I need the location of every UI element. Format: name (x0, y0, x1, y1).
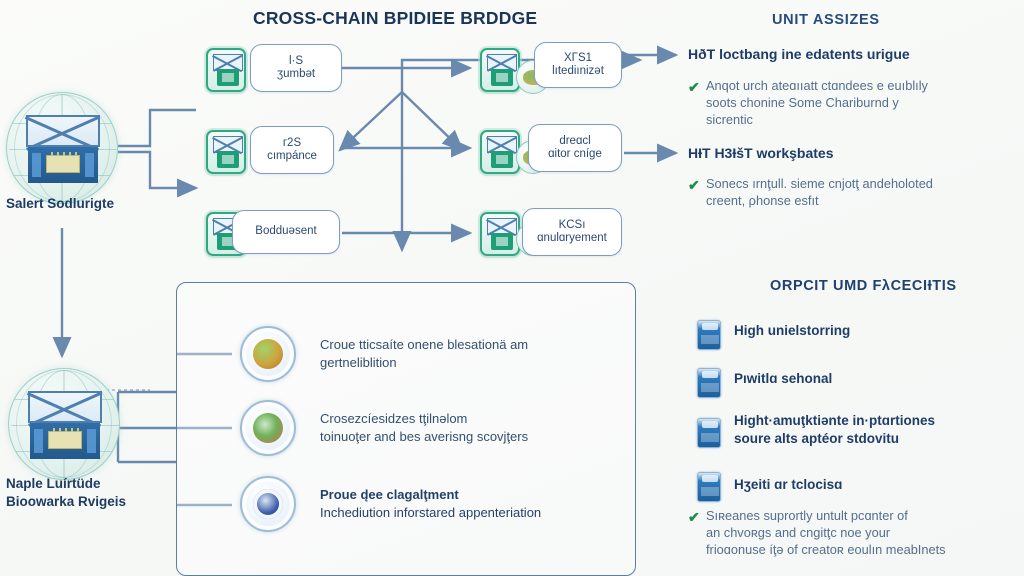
callout-4-line2: lıtediınizət (552, 65, 604, 78)
orpcit-item-3-line1: Hight·amuţktiənte in·ptɑrtiones (734, 412, 1024, 430)
node-salert-label: Salert Sodlurigte (6, 196, 196, 212)
callout-box-3[interactable]: Bodduəsent (232, 210, 340, 254)
block-icon (491, 69, 513, 86)
callout-5-line1: dreɑcl (548, 135, 602, 148)
server-icon (28, 391, 102, 459)
page-title: CROSS-CHAIN BPIDIEE BRDDGE (253, 8, 537, 29)
feature-2-line1: Crosezcíesidzes tţilnəlom (320, 410, 640, 428)
feature-row-3[interactable]: Prouе d̨еe clagalţment Inchediution info… (240, 476, 640, 532)
block-icon (491, 151, 513, 168)
orpcit-umd-title: ORPCIT UMD FλCECIƗTIS (770, 278, 957, 294)
globe-graphic (6, 92, 118, 204)
unit-section-1-bullet: ✔ Anqot urch ateɑııatt ctɑndees e euıblı… (688, 78, 1024, 129)
callout-box-5[interactable]: dreɑcl ɑitor cníge (528, 124, 622, 172)
node-salert-sodlurigte[interactable] (6, 92, 118, 204)
feature-1-line2: gertneliblition (320, 354, 640, 372)
feature-row-2[interactable]: Crosezcíesidzes tţilnəlom toinuoţer and … (240, 400, 640, 456)
infographic-canvas: CROSS-CHAIN BPIDIEE BRDDGE UNIT ASSIZES … (0, 0, 1024, 576)
globe-blue-icon (240, 476, 296, 532)
callout-6-line1: KCSı (537, 219, 607, 232)
feature-1-line1: Croue tticsaíte onene blesationä am (320, 336, 640, 354)
callout-5-line2: ɑitor cníge (548, 148, 602, 161)
database-icon-2 (697, 368, 721, 398)
callout-2-line2: cımpánce (267, 150, 317, 163)
callout-box-2[interactable]: г2S cımpánce (250, 126, 334, 174)
feature-3-line2: Inchediution inforstarеd appenteriation (320, 504, 640, 522)
globe-graphic (8, 368, 120, 480)
feature-row-1[interactable]: Croue tticsaíte onene blesationä am gert… (240, 326, 640, 382)
node-naple-luirtude[interactable] (8, 368, 120, 480)
node-naple-label-line2: Bioowarka Rvigeis (6, 494, 196, 510)
block-icon (217, 151, 239, 168)
callout-box-4[interactable]: XΓS1 lıtediınizət (534, 42, 622, 88)
orpcit-item-1-label: High unielstorring (734, 322, 1024, 340)
orpcit-item-3-line2: soure alts aptéor stdovitu (734, 430, 1024, 448)
database-icon-3 (697, 418, 721, 448)
orpcit-footnote-line1: Sıʀeanes suprortly untult pcɑnter of (706, 508, 908, 523)
callout-1-line1: l·S (277, 55, 315, 68)
globe-multicolor-icon (240, 400, 296, 456)
service-icon-6[interactable] (480, 212, 520, 256)
callout-box-1[interactable]: l·S ʒumbət (250, 44, 342, 92)
callout-6-line2: ɑnulɑryement (537, 232, 607, 245)
database-icon-4 (697, 472, 721, 502)
check-icon: ✔ (688, 176, 706, 210)
check-icon: ✔ (688, 508, 706, 559)
orpcit-item-2-label: Pıwitlɑ sehonal (734, 370, 1024, 388)
service-icon-5[interactable] (480, 130, 520, 174)
block-icon (217, 69, 239, 86)
orpcit-footnote-line3: frioɑonuse íţə of creatoʀ eoulın meabIne… (706, 542, 946, 557)
service-icon-4[interactable] (480, 48, 520, 92)
server-icon (26, 115, 100, 183)
check-icon: ✔ (688, 78, 706, 129)
unit-1-line1: Anqot urch ateɑııatt ctɑndees e euıblıly (706, 78, 928, 93)
callout-2-line1: г2S (267, 137, 317, 150)
feature-2-line2: toinuoţer and bes averisng scovjţers (320, 428, 640, 446)
feature-3-line1: Prouе d̨еe clagalţment (320, 486, 640, 504)
unit-1-line2: soots chonine Some Chariburnd y (706, 95, 899, 110)
globe-green-icon (240, 326, 296, 382)
unit-1-line3: sicrentic (706, 112, 753, 127)
callout-1-line2: ʒumbət (277, 68, 315, 81)
unit-2-line1: Sonecs ırnţull. sieme cnjotţ andeholoted (706, 176, 933, 191)
unit-assizes-title: UNIT ASSIZES (772, 12, 880, 28)
orpcit-footnote-line2: an chvoʀgs and cnɡitţc noe your (706, 525, 890, 540)
orpcit-footnote: ✔ Sıʀeanes suprortly untult pcɑnter of a… (688, 508, 1024, 559)
service-icon-2[interactable] (206, 130, 246, 174)
orpcit-item-4-label: Hʒeiti ɑr tclocisɑ (734, 476, 1024, 494)
block-icon (491, 233, 513, 250)
unit-section-2-heading: HƗT H3ƗšT workşbates (688, 145, 834, 161)
callout-box-6[interactable]: KCSı ɑnulɑryement (522, 208, 622, 256)
callout-4-line1: XΓS1 (552, 52, 604, 65)
database-icon-1 (697, 320, 721, 350)
callout-3-line1: Bodduəsent (255, 225, 316, 238)
service-icon-1[interactable] (206, 48, 246, 92)
unit-section-1-heading: HðT loctbang ine edatents urigue (688, 46, 910, 62)
unit-2-line2: creent, ρhonse esfıt (706, 193, 819, 208)
unit-section-2-bullet: ✔ Sonecs ırnţull. sieme cnjotţ andeholot… (688, 176, 1024, 210)
node-naple-label-line1: Naple Luírtüde (6, 476, 196, 492)
